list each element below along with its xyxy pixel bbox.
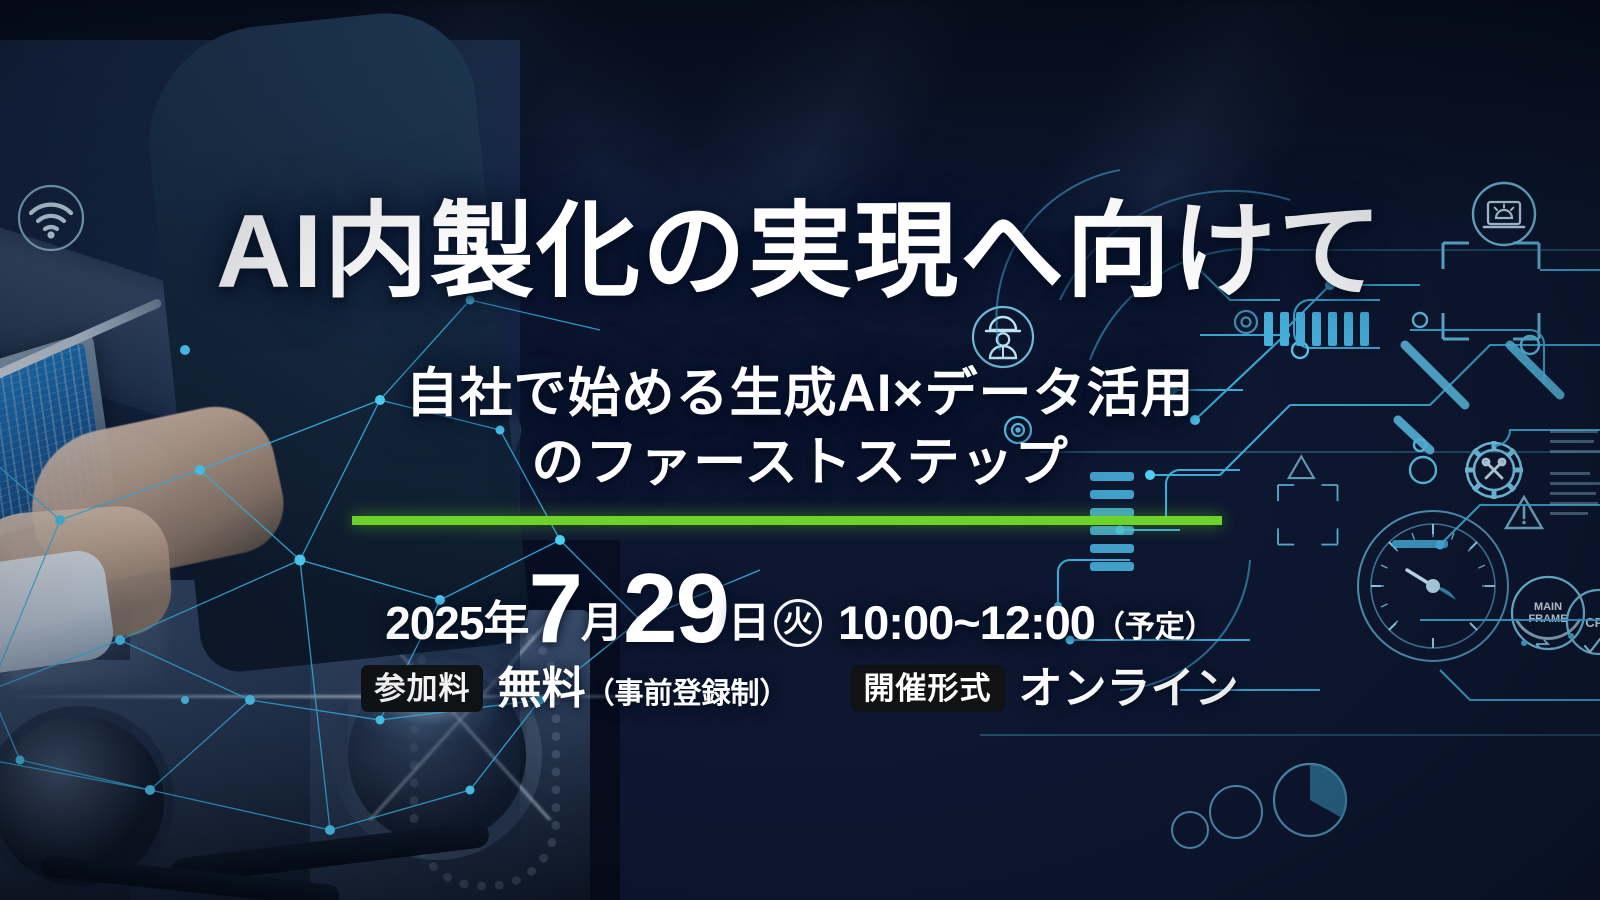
event-year: 2025年: [385, 600, 528, 650]
fee-label-badge: 参加料: [361, 665, 483, 712]
event-day-number: 29: [623, 566, 728, 650]
banner-content: AI内製化の実現へ向けて 自社で始める生成AI×データ活用 のファーストステップ…: [0, 0, 1600, 900]
event-day-of-week: 火: [774, 599, 822, 647]
format-value: オンライン: [1019, 667, 1239, 711]
event-time: 10:00~12:00: [838, 599, 1095, 650]
format-label-badge: 開催形式: [851, 665, 1005, 712]
green-divider-rule: [352, 516, 1222, 525]
event-day-unit: 日: [728, 602, 770, 650]
event-month-number: 7: [528, 566, 581, 650]
event-datetime: 2025年 7 月 29 日 火 10:00~12:00 （予定）: [0, 566, 1600, 650]
fee-value-note: （事前登録制）: [585, 678, 788, 710]
fee-value: 無料（事前登録制）: [497, 667, 788, 711]
webinar-banner: MAIN FRAME CPU: [0, 0, 1600, 900]
page-subtitle: 自社で始める生成AI×データ活用 のファーストステップ: [0, 360, 1600, 498]
subtitle-line-2: のファーストステップ: [0, 429, 1600, 498]
event-time-note: （予定）: [1095, 613, 1215, 650]
event-info-row: 参加料 無料（事前登録制） 開催形式 オンライン: [0, 665, 1600, 712]
event-month-unit: 月: [581, 602, 623, 650]
fee-value-main: 無料: [497, 664, 585, 713]
subtitle-line-1: 自社で始める生成AI×データ活用: [406, 364, 1195, 423]
page-title: AI内製化の実現へ向けて: [0, 196, 1600, 308]
